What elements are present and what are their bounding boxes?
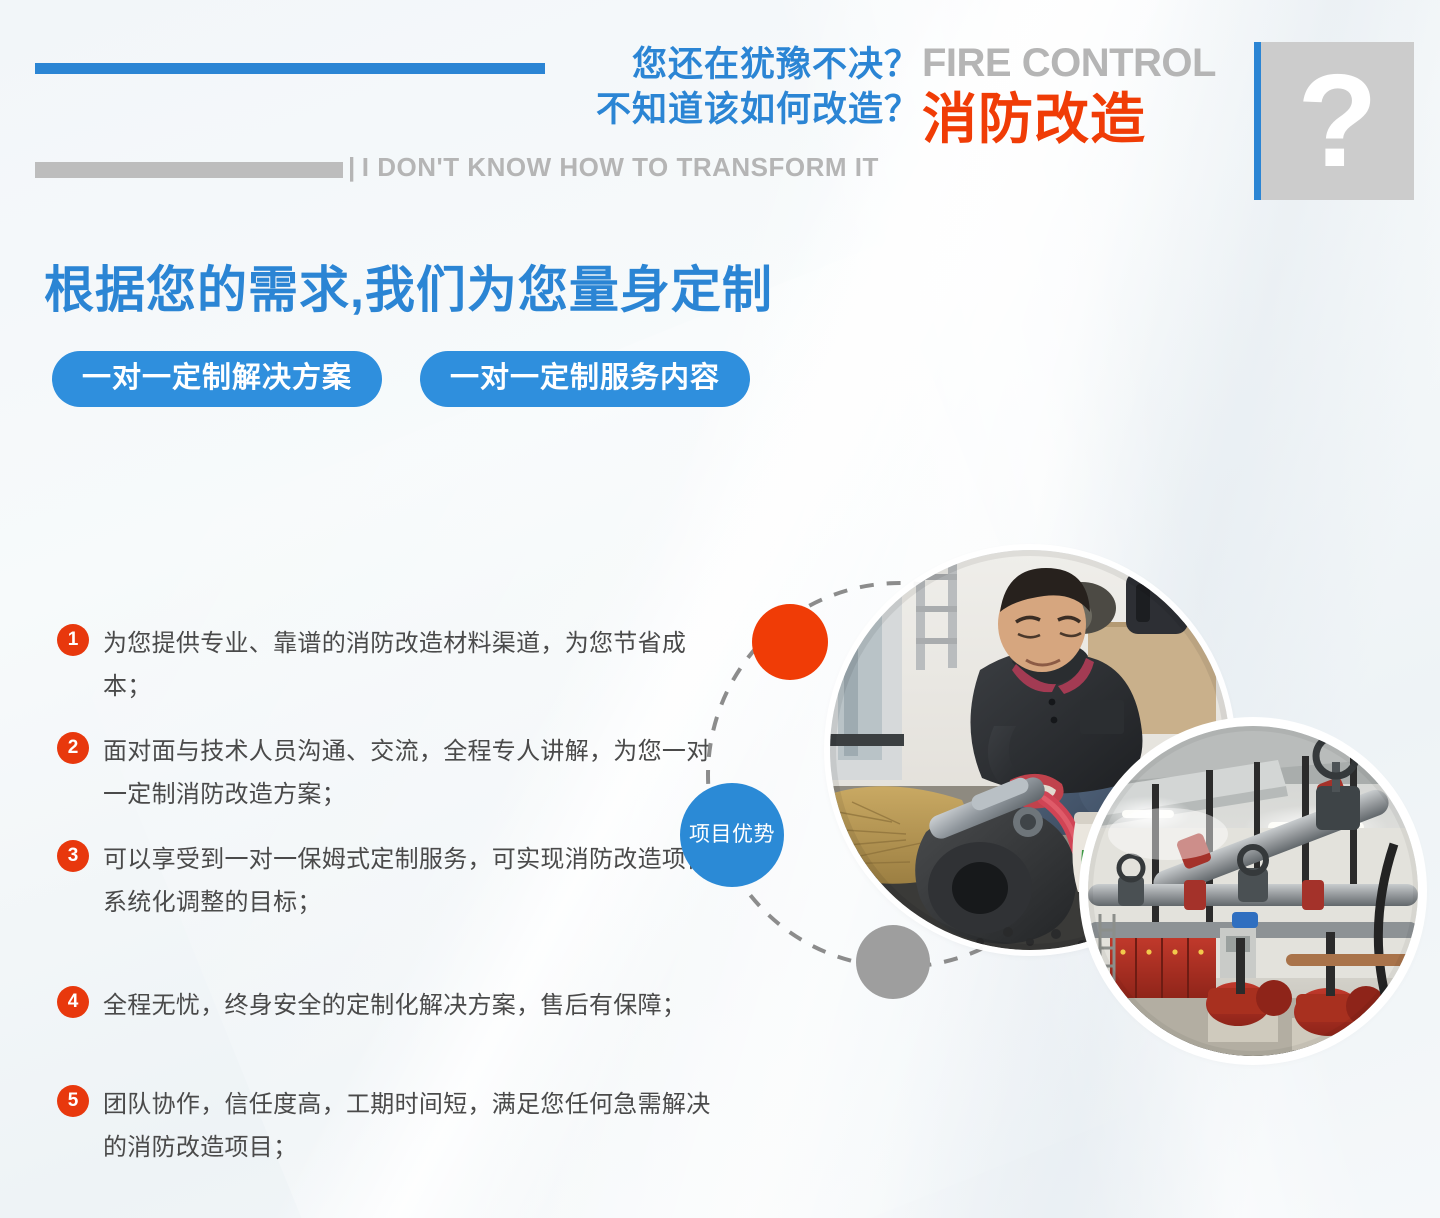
header-question-line-1: 您还在犹豫不决？ [550,42,920,87]
list-item: 1 为您提供专业、靠谱的消防改造材料渠道，为您节省成本； [57,622,717,708]
brand-block: FIRE CONTROL 消防改造 [922,40,1232,150]
header: 您还在犹豫不决？ 不知道该如何改造？ |I DON'T KNOW HOW TO … [0,0,1440,215]
brand-chinese: 消防改造 [922,88,1232,150]
header-question-line-2: 不知道该如何改造？ [550,87,920,132]
list-item: 5 团队协作，信任度高，工期时间短，满足您任何急需解决的消防改造项目； [57,1083,717,1169]
list-item: 2 面对面与技术人员沟通、交流，全程专人讲解，为您一对一定制消防改造方案； [57,730,717,816]
subtitle-text: I DON'T KNOW HOW TO TRANSFORM IT [362,152,879,182]
list-item-text: 可以享受到一对一保姆式定制服务，可实现消防改造项目系统化调整的目标； [103,838,717,924]
diagram-dot-gray [856,925,930,999]
diagram-center-label: 项目优势 [680,783,784,887]
pill-custom-service[interactable]: 一对一定制服务内容 [420,351,750,407]
photo-fire-pump-room-graphic [1088,726,1418,1056]
list-item-text: 全程无忧，终身安全的定制化解决方案，售后有保障； [103,984,686,1027]
question-mark-icon: ? [1261,55,1414,187]
list-number-badge: 3 [57,840,89,872]
list-item-text: 面对面与技术人员沟通、交流，全程专人讲解，为您一对一定制消防改造方案； [103,730,717,816]
page-title: 根据您的需求,我们为您量身定制 [44,250,773,322]
list-item: 3 可以享受到一对一保姆式定制服务，可实现消防改造项目系统化调整的目标； [57,838,717,924]
advantages-list: 1 为您提供专业、靠谱的消防改造材料渠道，为您节省成本； 2 面对面与技术人员沟… [57,622,717,1191]
list-number-badge: 5 [57,1085,89,1117]
list-number-badge: 4 [57,986,89,1018]
brand-english: FIRE CONTROL [922,40,1232,86]
list-item-text: 为您提供专业、靠谱的消防改造材料渠道，为您节省成本； [103,622,717,708]
advantage-diagram: 项目优势 [660,530,1440,1090]
photo-fire-pump-room [1088,726,1418,1056]
list-number-badge: 1 [57,624,89,656]
header-english-subtitle: |I DON'T KNOW HOW TO TRANSFORM IT [348,152,920,183]
pill-button-group: 一对一定制解决方案 一对一定制服务内容 [52,351,750,407]
list-item-text: 团队协作，信任度高，工期时间短，满足您任何急需解决的消防改造项目； [103,1083,717,1169]
gray-rule-bar [35,162,343,178]
list-number-badge: 2 [57,732,89,764]
pill-custom-solution[interactable]: 一对一定制解决方案 [52,351,382,407]
header-question-lines: 您还在犹豫不决？ 不知道该如何改造？ [550,42,920,132]
diagram-dot-orange [752,604,828,680]
blue-rule-bar [35,63,545,74]
question-mark-box: ? [1254,42,1414,200]
list-item: 4 全程无忧，终身安全的定制化解决方案，售后有保障； [57,984,717,1027]
promo-page: 您还在犹豫不决？ 不知道该如何改造？ |I DON'T KNOW HOW TO … [0,0,1440,1218]
subtitle-pipe-divider: | [348,152,356,182]
